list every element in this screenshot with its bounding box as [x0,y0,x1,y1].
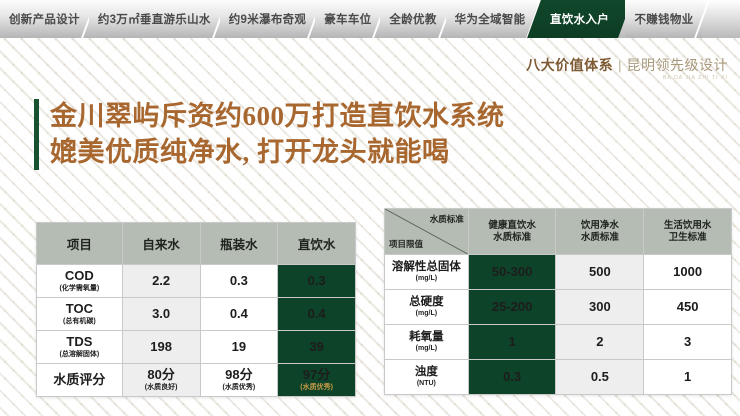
row-label-sub: (总有机碳) [37,318,122,326]
table-row: 总硬度 (mg/L) 25-200 300 450 [385,290,732,325]
row-label-turbidity: 浊度 (NTU) [385,360,469,395]
row-label-unit: (mg/L) [385,310,468,318]
brandmark-sub-text: 昆明领先级设计 [627,58,729,72]
row-label-tds: TDS (总溶解固体) [37,331,123,364]
slide-canvas: 创新产品设计 约3万㎡垂直游乐山水 约9米瀑布奇观 豪车车位 全龄优教 华为全域… [0,0,740,416]
cell-tds-healthy: 50-300 [468,255,556,290]
cell-value: 1000 [644,265,731,280]
cell-score-tap: 80分 (水质良好) [122,364,200,397]
cell-value: 39 [278,340,355,355]
row-label-main: COD [37,269,122,284]
table-header-row: 项目 自来水 瓶装水 直饮水 [37,223,356,265]
brandmark-separator: | [618,59,621,72]
cell-value: 0.3 [201,274,278,289]
cell-value: 2.2 [123,274,200,289]
row-label-unit: (mg/L) [385,275,468,283]
cell-oxygen-domestic: 3 [644,325,732,360]
headline-block: 金川翠屿斥资约600万打造直饮水系统 媲美优质纯净水, 打开龙头就能喝 [34,99,505,170]
table-header-row: 水质标准 项目限值 健康直饮水 水质标准 饮用净水 水质标准 生活饮用水 卫生标… [385,209,732,255]
row-label-main: 溶解性总固体 [385,261,468,274]
headline-text-group: 金川翠屿斥资约600万打造直饮水系统 媲美优质纯净水, 打开龙头就能喝 [50,99,505,170]
nav-tab-7[interactable]: 不赚钱物业 [625,0,702,38]
cell-oxygen-healthy: 1 [468,325,556,360]
nav-tab-3[interactable]: 豪车车位 [315,0,380,38]
cell-value: 1 [644,370,731,385]
cell-value: 500 [556,265,643,280]
row-label-tds-dissolved-solids: 溶解性总固体 (mg/L) [385,255,469,290]
row-label-main: TDS [37,335,122,350]
row-label-main: 浊度 [385,366,468,379]
water-comparison-table: 项目 自来水 瓶装水 直饮水 COD (化学需氧量) 2.2 0.3 0.3 T… [36,222,356,397]
nav-tab-0[interactable]: 创新产品设计 [0,0,89,38]
nav-tab-2[interactable]: 约9米瀑布奇观 [220,0,316,38]
cell-hardness-healthy: 25-200 [468,290,556,325]
cell-turbidity-domestic: 1 [644,360,732,395]
row-label-sub: (化学需氧量) [37,285,122,293]
nav-tab-label: 豪车车位 [324,11,371,27]
cell-turbidity-healthy: 0.3 [468,360,556,395]
cell-toc-tap: 3.0 [122,298,200,331]
corner-split-header: 水质标准 项目限值 [385,209,469,255]
table-row: 水质评分 80分 (水质良好) 98分 (水质优秀) 97分 (水质优秀) [37,364,356,397]
nav-tab-5[interactable]: 华为全域智能 [446,0,535,38]
table-row: 溶解性总固体 (mg/L) 50-300 500 1000 [385,255,732,290]
cell-tds-tap: 198 [122,331,200,364]
cell-value: 1 [469,335,556,350]
cell-oxygen-purified: 2 [556,325,644,360]
row-label-toc: TOC (总有机碳) [37,298,123,331]
cell-value-sub: (水质良好) [123,384,200,392]
cell-value: 3 [644,335,731,350]
cell-score-bottled: 98分 (水质优秀) [200,364,278,397]
nav-tab-4[interactable]: 全龄优教 [380,0,445,38]
headline-accent-bar [34,99,39,170]
cell-toc-direct: 0.4 [278,298,356,331]
row-label-unit: (NTU) [385,380,468,388]
water-standards-table: 水质标准 项目限值 健康直饮水 水质标准 饮用净水 水质标准 生活饮用水 卫生标… [384,208,732,395]
col-header-item: 项目 [37,223,123,265]
headline-line-1: 金川翠屿斥资约600万打造直饮水系统 [50,99,505,135]
nav-tab-label: 创新产品设计 [9,11,80,27]
nav-tab-label: 直饮水入户 [550,11,609,27]
cell-value: 0.5 [556,370,643,385]
row-label-main: 耗氧量 [385,331,468,344]
row-label-oxygen-consumption: 耗氧量 (mg/L) [385,325,469,360]
cell-value-sub: (水质优秀) [278,384,355,392]
nav-tab-label: 约9米瀑布奇观 [229,11,307,27]
nav-tab-label: 全龄优教 [389,11,436,27]
cell-turbidity-purified: 0.5 [556,360,644,395]
row-label-total-hardness: 总硬度 (mg/L) [385,290,469,325]
cell-score-direct: 97分 (水质优秀) [278,364,356,397]
col-header-line2: 水质标准 [469,232,556,244]
row-label-main: 水质评分 [37,373,122,388]
table-row: TDS (总溶解固体) 198 19 39 [37,331,356,364]
cell-value: 97分 [278,368,355,383]
col-header-direct-drink-water: 直饮水 [278,223,356,265]
cell-value: 198 [123,340,200,355]
col-header-line2: 水质标准 [556,232,643,244]
table-row: 浊度 (NTU) 0.3 0.5 1 [385,360,732,395]
row-label-main: 总硬度 [385,296,468,309]
col-header-line1: 饮用净水 [556,220,643,232]
table-row: 耗氧量 (mg/L) 1 2 3 [385,325,732,360]
row-label-main: TOC [37,302,122,317]
table-row: TOC (总有机碳) 3.0 0.4 0.4 [37,298,356,331]
col-header-line1: 健康直饮水 [469,220,556,232]
cell-tds-bottled: 19 [200,331,278,364]
row-label-unit: (mg/L) [385,345,468,353]
corner-header-limit: 项目限值 [389,239,423,250]
cell-value: 98分 [201,368,278,383]
cell-tds-domestic: 1000 [644,255,732,290]
headline-line-2: 媲美优质纯净水, 打开龙头就能喝 [50,135,505,171]
col-header-domestic-drinking: 生活饮用水 卫生标准 [644,209,732,255]
row-label-sub: (总溶解固体) [37,351,122,359]
brandmark-main-text: 八大价值体系 [526,58,613,72]
cell-tds-purified: 500 [556,255,644,290]
col-header-bottled-water: 瓶装水 [200,223,278,265]
cell-value: 300 [556,300,643,315]
row-label-water-score: 水质评分 [37,364,123,397]
cell-value: 450 [644,300,731,315]
nav-tab-label: 华为全域智能 [455,11,526,27]
cell-value: 25-200 [469,300,556,315]
col-header-healthy-direct-drink: 健康直饮水 水质标准 [468,209,556,255]
col-header-line2: 卫生标准 [644,232,731,244]
cell-value: 0.3 [278,274,355,289]
row-label-cod: COD (化学需氧量) [37,265,123,298]
cell-toc-bottled: 0.4 [200,298,278,331]
col-header-tap-water: 自来水 [122,223,200,265]
cell-cod-tap: 2.2 [122,265,200,298]
corner-header-standard: 水质标准 [430,214,464,225]
nav-tab-1[interactable]: 约3万㎡垂直游乐山水 [89,0,220,38]
top-navigation-bar: 创新产品设计 约3万㎡垂直游乐山水 约9米瀑布奇观 豪车车位 全龄优教 华为全域… [0,0,740,38]
cell-value: 3.0 [123,307,200,322]
cell-value: 2 [556,335,643,350]
cell-cod-bottled: 0.3 [200,265,278,298]
cell-value: 0.4 [278,307,355,322]
cell-tds-direct: 39 [278,331,356,364]
cell-value-sub: (水质优秀) [201,384,278,392]
cell-value: 50-300 [469,265,556,280]
cell-value: 80分 [123,368,200,383]
nav-tab-label: 约3万㎡垂直游乐山水 [98,11,211,27]
brandmark-english-text: BA DA JIA ZHI TI XI [526,76,728,81]
cell-hardness-purified: 300 [556,290,644,325]
brand-value-system-mark: 八大价值体系 | 昆明领先级设计 BA DA JIA ZHI TI XI [526,58,728,81]
cell-value: 19 [201,340,278,355]
cell-value: 0.4 [201,307,278,322]
nav-tab-label: 不赚钱物业 [634,11,693,27]
table-row: COD (化学需氧量) 2.2 0.3 0.3 [37,265,356,298]
nav-tab-6-active[interactable]: 直饮水入户 [528,0,633,38]
col-header-purified-drinking: 饮用净水 水质标准 [556,209,644,255]
col-header-line1: 生活饮用水 [644,220,731,232]
cell-cod-direct: 0.3 [278,265,356,298]
cell-value: 0.3 [469,370,556,385]
cell-hardness-domestic: 450 [644,290,732,325]
